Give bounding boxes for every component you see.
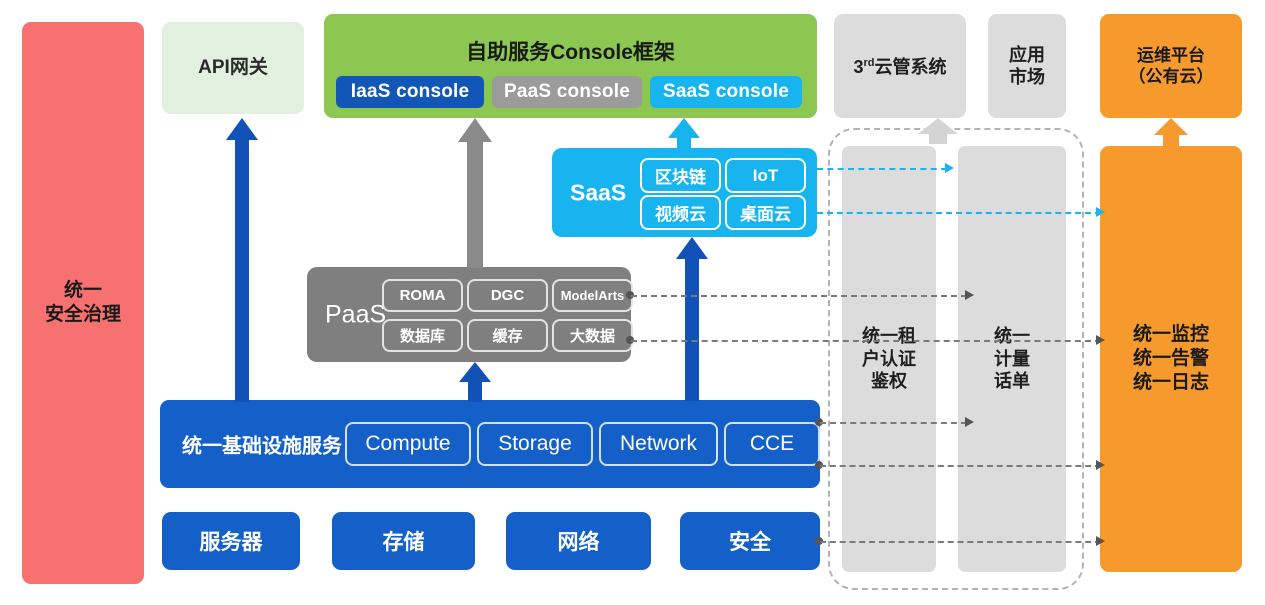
paas-console-label: PaaS console [504, 81, 630, 103]
architecture-diagram: 统一 安全治理 API网关 自助服务Console框架 IaaS console… [0, 0, 1265, 605]
saas-console-label: SaaS console [663, 81, 789, 103]
third-party-cloud-mgmt-box: 3rd云管系统 [834, 14, 966, 118]
flow-saas-to-tenant-auth [817, 168, 947, 170]
paas-item-modelarts-label: ModelArts [561, 288, 625, 303]
arrowhead-saas-to-ops-column [1096, 207, 1105, 217]
flow-saas-to-ops-column [817, 212, 1101, 214]
arrow-saas-to-console [668, 118, 700, 150]
paas-item-modelarts[interactable]: ModelArts [552, 279, 633, 312]
hardware-tile-storage[interactable]: 存储 [332, 512, 475, 570]
ops-platform-label: 运维平台 （公有云） [1129, 45, 1214, 88]
flow-paas-to-tenant-auth [631, 295, 967, 297]
arrow-infra-to-api-gateway [226, 118, 258, 402]
third-party-cloud-mgmt-label: 3rd云管系统 [853, 53, 946, 79]
unified-infrastructure-title: 统一基础设施服务 [182, 430, 342, 459]
arrowhead-infra-to-ops-column [1096, 460, 1105, 470]
arrow-to-ops-platform [1154, 118, 1188, 148]
infra-item-cce[interactable]: CCE [724, 422, 820, 466]
infra-item-compute-label: Compute [365, 432, 450, 456]
tenant-auth-column: 统一租 户认证 鉴权 [842, 146, 936, 572]
hardware-tile-server-label: 服务器 [200, 526, 263, 556]
hardware-tile-network-label: 网络 [558, 526, 600, 556]
paas-item-database[interactable]: 数据库 [382, 319, 463, 352]
saas-console-chip[interactable]: SaaS console [650, 76, 802, 108]
saas-item-blockchain-label: 区块链 [655, 163, 706, 188]
paas-panel: PaaS ROMA DGC ModelArts 数据库 缓存 大数据 [307, 267, 631, 362]
app-market-box: 应用 市场 [988, 14, 1066, 118]
security-governance-column: 统一 安全治理 [22, 22, 144, 584]
console-framework-panel: 自助服务Console框架 IaaS console PaaS console … [324, 14, 817, 118]
console-framework-title: 自助服务Console框架 [324, 36, 817, 66]
security-governance-label: 统一 安全治理 [45, 279, 121, 327]
arrowhead-infra-to-tenant-auth [965, 417, 974, 427]
flow-infra-to-tenant-auth [820, 422, 967, 424]
saas-title: SaaS [570, 179, 626, 206]
arrow-to-third-party-cloud [918, 118, 958, 144]
arrow-infra-to-paas [459, 362, 491, 402]
arrowhead-paas-to-tenant-auth [965, 290, 974, 300]
flow-hardware-to-ops-column [820, 541, 1101, 543]
ops-platform-box: 运维平台 （公有云） [1100, 14, 1242, 118]
tenant-auth-label: 统一租 户认证 鉴权 [862, 325, 916, 393]
saas-item-video-cloud[interactable]: 视频云 [640, 195, 721, 230]
saas-item-iot[interactable]: IoT [725, 158, 806, 193]
hardware-tile-security-label: 安全 [729, 526, 771, 556]
arrowhead-saas-to-tenant-auth [945, 163, 954, 173]
arrowhead-hardware-to-ops-column [1096, 536, 1105, 546]
api-gateway-label: API网关 [198, 56, 268, 80]
paas-item-dgc-label: DGC [491, 287, 524, 304]
saas-item-video-cloud-label: 视频云 [655, 200, 706, 225]
paas-item-cache-label: 缓存 [492, 325, 522, 346]
infra-item-cce-label: CCE [750, 432, 794, 456]
saas-item-blockchain[interactable]: 区块链 [640, 158, 721, 193]
saas-item-iot-label: IoT [753, 166, 779, 186]
unified-monitoring-label: 统一监控 统一告警 统一日志 [1133, 323, 1209, 394]
arrowhead-paas-to-ops-column [1096, 335, 1105, 345]
metering-billing-label: 统一 计量 话单 [994, 325, 1030, 393]
hardware-tile-server[interactable]: 服务器 [162, 512, 300, 570]
metering-billing-column: 统一 计量 话单 [958, 146, 1066, 572]
saas-item-desktop-cloud-label: 桌面云 [740, 200, 791, 225]
arrow-infra-to-saas [676, 237, 708, 401]
hardware-tile-network[interactable]: 网络 [506, 512, 651, 570]
arrow-paas-to-console [458, 118, 492, 268]
flow-infra-to-ops-column [820, 465, 1101, 467]
unified-monitoring-column: 统一监控 统一告警 统一日志 [1100, 146, 1242, 572]
infra-item-storage-label: Storage [498, 432, 572, 456]
hardware-tile-security[interactable]: 安全 [680, 512, 820, 570]
saas-item-desktop-cloud[interactable]: 桌面云 [725, 195, 806, 230]
iaas-console-label: IaaS console [351, 81, 470, 103]
paas-item-roma[interactable]: ROMA [382, 279, 463, 312]
paas-item-roma-label: ROMA [400, 287, 446, 304]
paas-item-bigdata-label: 大数据 [570, 325, 615, 346]
infra-item-network-label: Network [620, 432, 697, 456]
paas-item-cache[interactable]: 缓存 [467, 319, 548, 352]
unified-infrastructure-bar: 统一基础设施服务 Compute Storage Network CCE [160, 400, 820, 488]
paas-item-database-label: 数据库 [400, 325, 445, 346]
paas-console-chip[interactable]: PaaS console [492, 76, 642, 108]
saas-panel: SaaS 区块链 IoT 视频云 桌面云 [552, 148, 817, 237]
flow-paas-to-ops-column [631, 340, 1101, 342]
paas-item-bigdata[interactable]: 大数据 [552, 319, 633, 352]
paas-title: PaaS [325, 300, 386, 329]
api-gateway-box: API网关 [162, 22, 304, 114]
infra-item-storage[interactable]: Storage [477, 422, 593, 466]
app-market-label: 应用 市场 [1009, 44, 1045, 89]
paas-item-dgc[interactable]: DGC [467, 279, 548, 312]
infra-item-network[interactable]: Network [599, 422, 718, 466]
hardware-tile-storage-label: 存储 [383, 526, 425, 556]
iaas-console-chip[interactable]: IaaS console [336, 76, 484, 108]
infra-item-compute[interactable]: Compute [345, 422, 471, 466]
